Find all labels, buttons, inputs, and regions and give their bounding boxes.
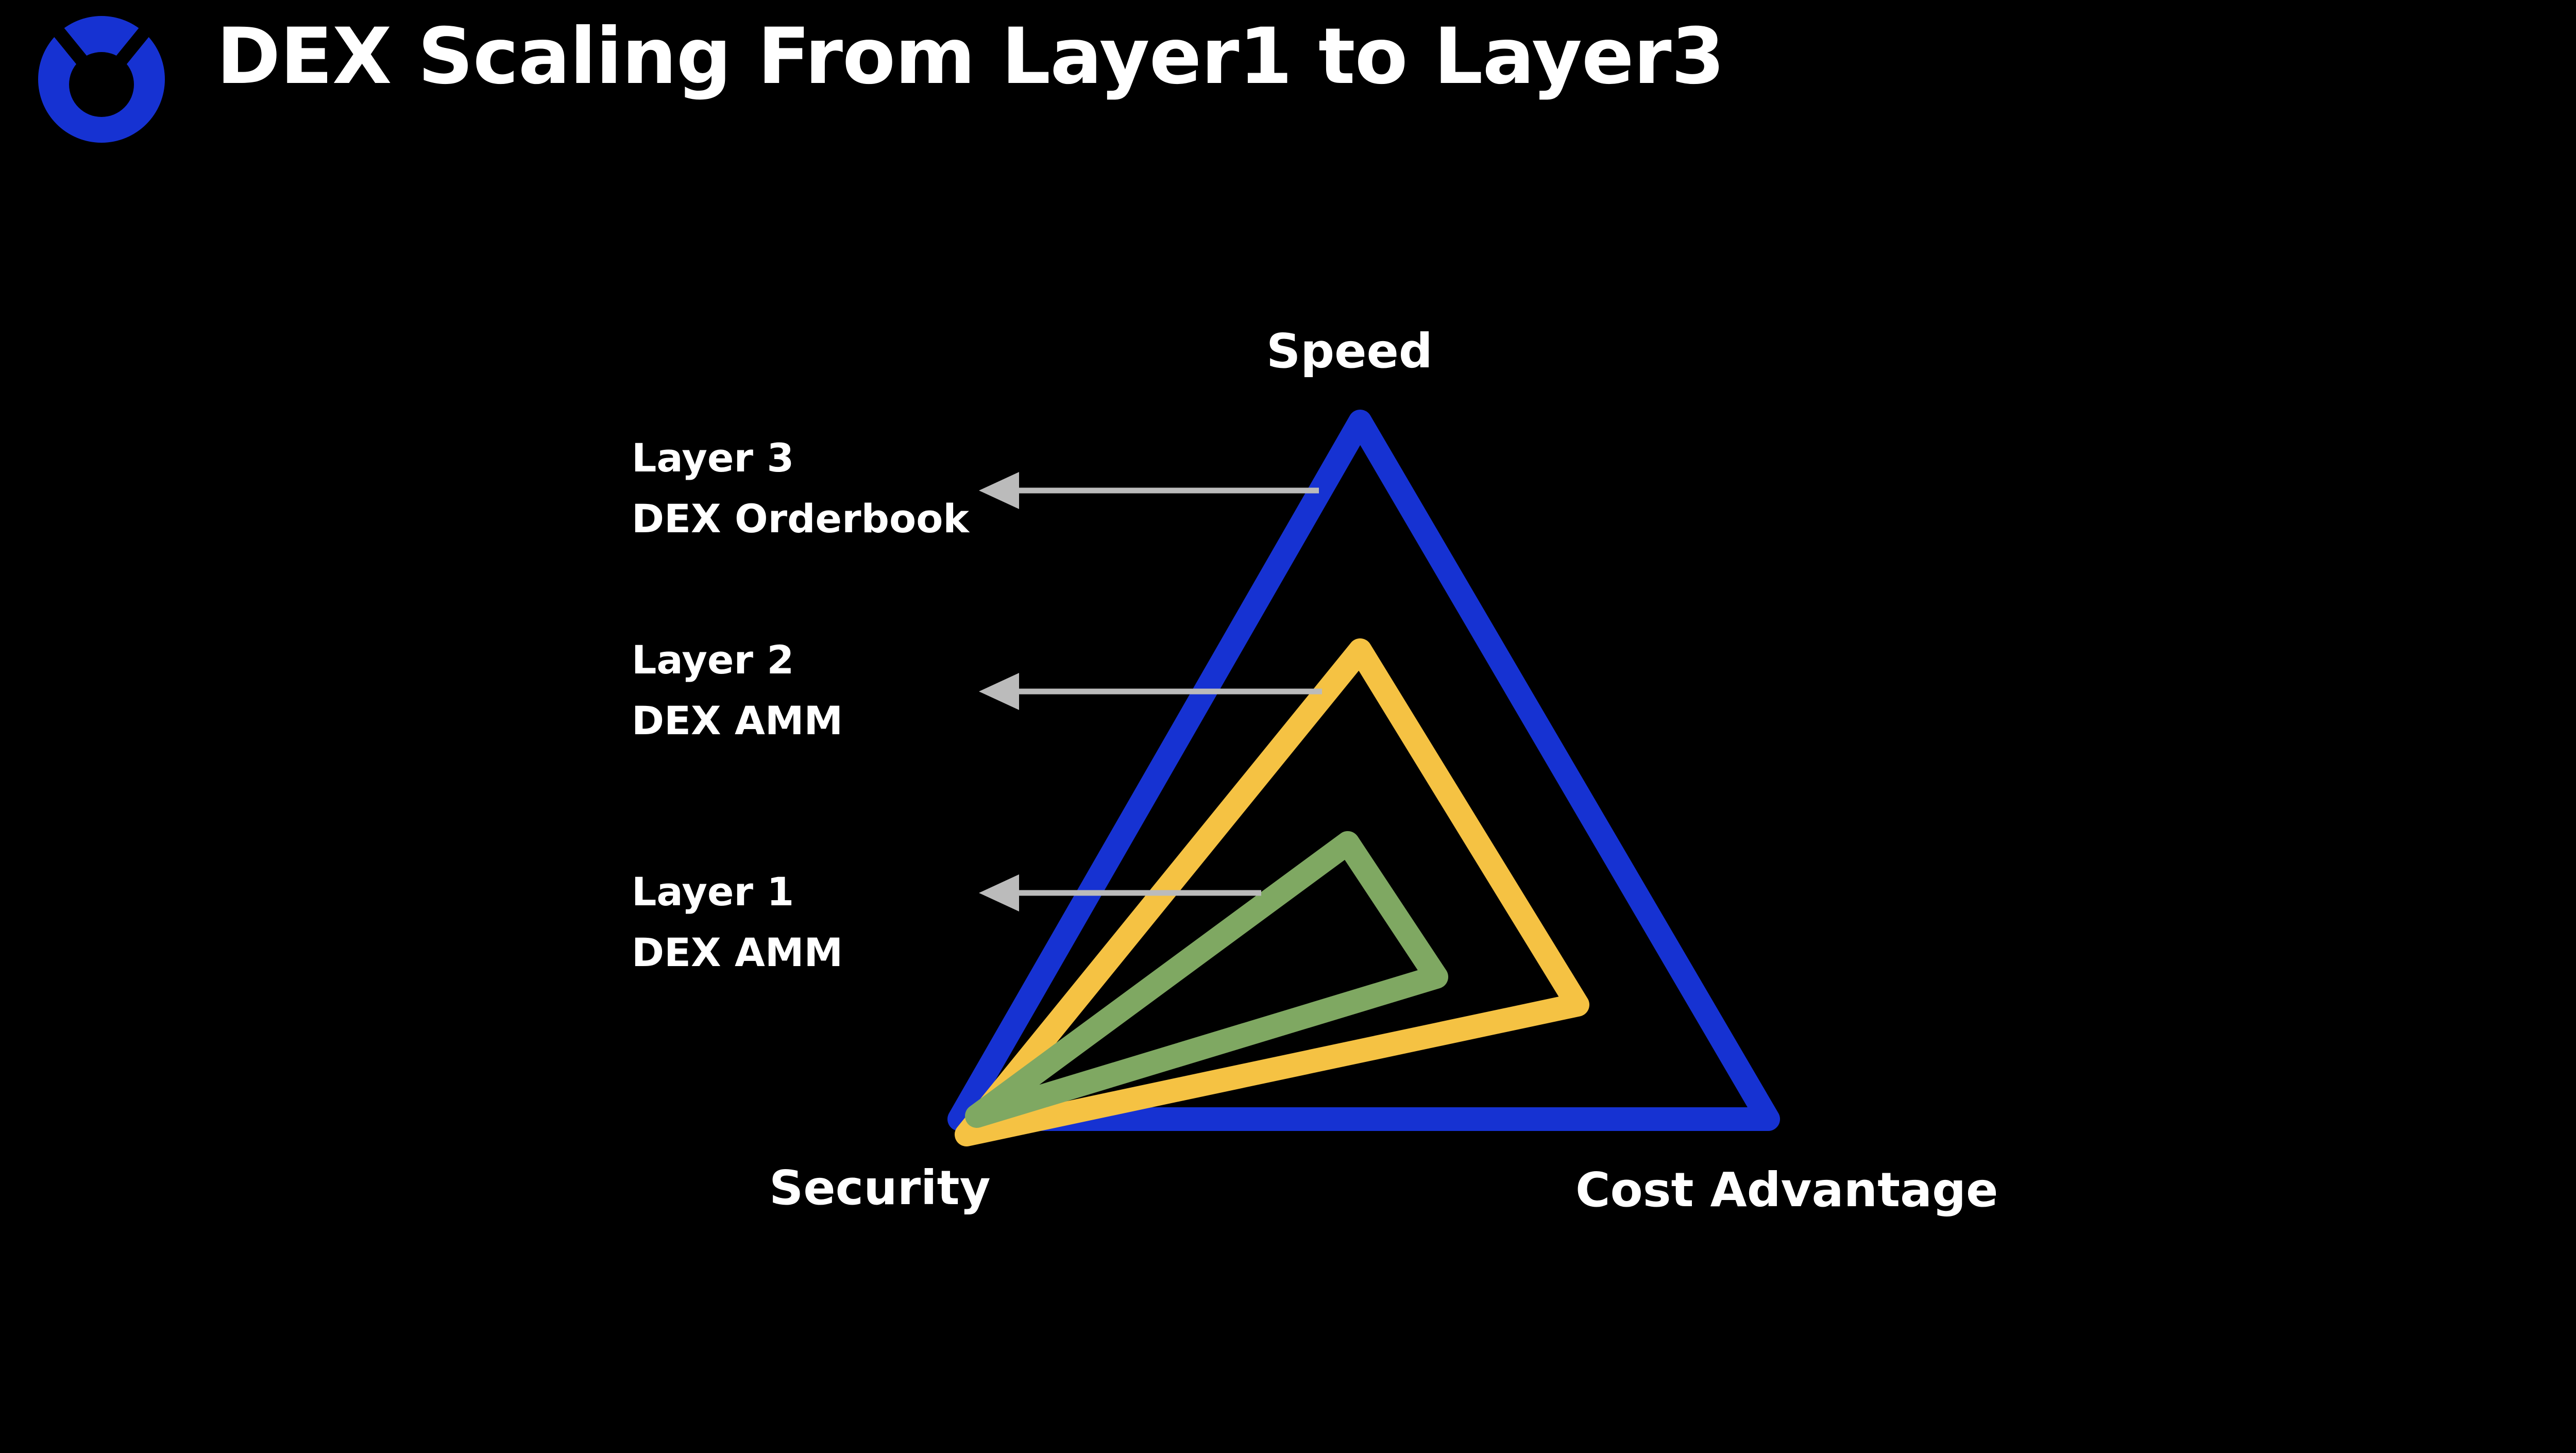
- legend-item-layer2: Layer 2 DEX AMM: [632, 630, 843, 751]
- legend-item-layer3: Layer 3 DEX Orderbook: [632, 428, 969, 549]
- legend-item-layer1-line1: Layer 1: [632, 861, 843, 922]
- legend-item-layer1-line2: DEX AMM: [632, 922, 843, 983]
- legend-item-layer2-line2: DEX AMM: [632, 690, 843, 751]
- radar-chart: Speed Security Cost Advantage Layer 3 DE…: [0, 0, 2576, 1453]
- legend-item-layer2-line1: Layer 2: [632, 630, 843, 690]
- axis-label-speed: Speed: [1266, 324, 1433, 379]
- legend-item-layer3-line2: DEX Orderbook: [632, 488, 969, 549]
- callout-arrow-layer1: [979, 874, 1261, 911]
- series-polygon-layer3: [959, 421, 1768, 1119]
- callout-arrow-layer3: [979, 472, 1319, 509]
- axis-label-security: Security: [769, 1160, 991, 1215]
- legend-item-layer1: Layer 1 DEX AMM: [632, 861, 843, 983]
- legend-item-layer3-line1: Layer 3: [632, 428, 969, 488]
- radar-chart-svg: [0, 0, 2576, 1453]
- callout-arrow-layer2: [979, 673, 1322, 710]
- slide-canvas: DEX Scaling From Layer1 to Layer3: [0, 0, 2576, 1453]
- axis-label-cost: Cost Advantage: [1575, 1162, 1998, 1218]
